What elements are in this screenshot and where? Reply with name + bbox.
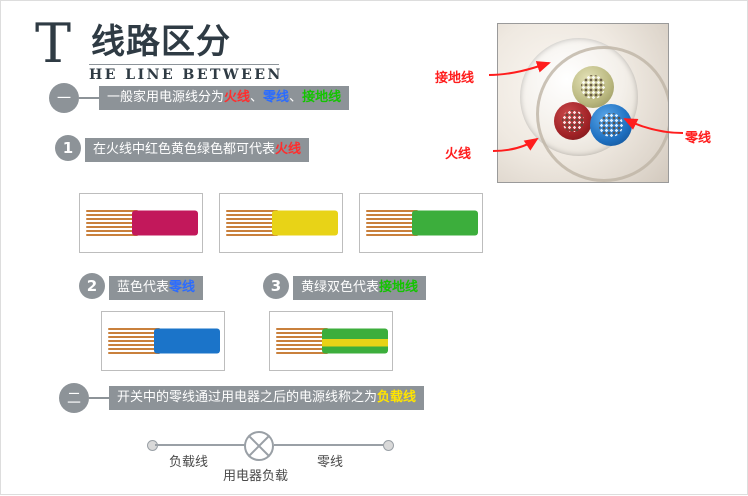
poster-title: T 线路区分 HE LINE BETWEEN [35,17,335,81]
circuit-node-right [383,440,394,451]
title-english: HE LINE BETWEEN [89,67,283,83]
wire-sheath-green [412,211,478,236]
circuit-label-lamp: 用电器负载 [223,465,288,484]
step-badge-3: 3 [263,273,289,299]
step-badge-2: 2 [79,273,105,299]
callout-neutral-label: 零线 [685,127,711,146]
core-live [554,102,592,140]
step-badge-1: 1 [55,135,81,161]
wire-sheath-yellow-green [322,329,388,354]
lamp-symbol-icon [244,431,274,461]
copper-strands-icon [108,326,160,356]
ordinal-badge-two: 二 [59,383,89,413]
copper-strands-icon [86,208,138,238]
wire-sheath-red [132,211,198,236]
title-divider [89,64,279,65]
callout-ground-label: 接地线 [435,67,474,86]
core-texture [599,113,623,137]
core-ground [572,66,614,108]
circuit-label-neutral-line: 零线 [317,451,343,470]
cable-cross-section-photo [497,23,669,183]
core-texture [581,75,605,99]
core-neutral [590,104,632,146]
wire-sample-yellow [219,193,343,253]
title-letter-t: T [35,17,71,71]
wire-sheath-blue [154,329,220,354]
circuit-wire-right [274,444,384,446]
wire-sheath-yellow [272,211,338,236]
step-3-label: 黄绿双色代表接地线 [293,276,426,300]
step-2-label: 蓝色代表零线 [109,276,203,300]
section-one-label: 一般家用电源线分为火线、零线、接地线 [99,86,349,110]
poster-root: T 线路区分 HE LINE BETWEEN 一 一般家用电源线分为火线、零线、… [0,0,748,495]
step-1-label: 在火线中红色黄色绿色都可代表火线 [85,138,309,162]
copper-strands-icon [276,326,328,356]
callout-live-label: 火线 [445,143,471,162]
ordinal-one-lead-line [79,97,101,99]
copper-strands-icon [226,208,278,238]
circuit-label-load-line: 负载线 [169,451,208,470]
cable-cut-face [520,38,638,156]
ordinal-two-lead-line [89,397,111,399]
wire-sample-green [359,193,483,253]
copper-strands-icon [366,208,418,238]
wire-sample-red [79,193,203,253]
wire-sample-yellow-green [269,311,393,371]
ordinal-badge-one: 一 [49,83,79,113]
circuit-wire-left [155,444,245,446]
core-texture [562,110,583,131]
section-two-label: 开关中的零线通过用电器之后的电源线称之为负载线 [109,386,424,410]
title-chinese: 线路区分 [91,23,231,61]
wire-sample-blue [101,311,225,371]
